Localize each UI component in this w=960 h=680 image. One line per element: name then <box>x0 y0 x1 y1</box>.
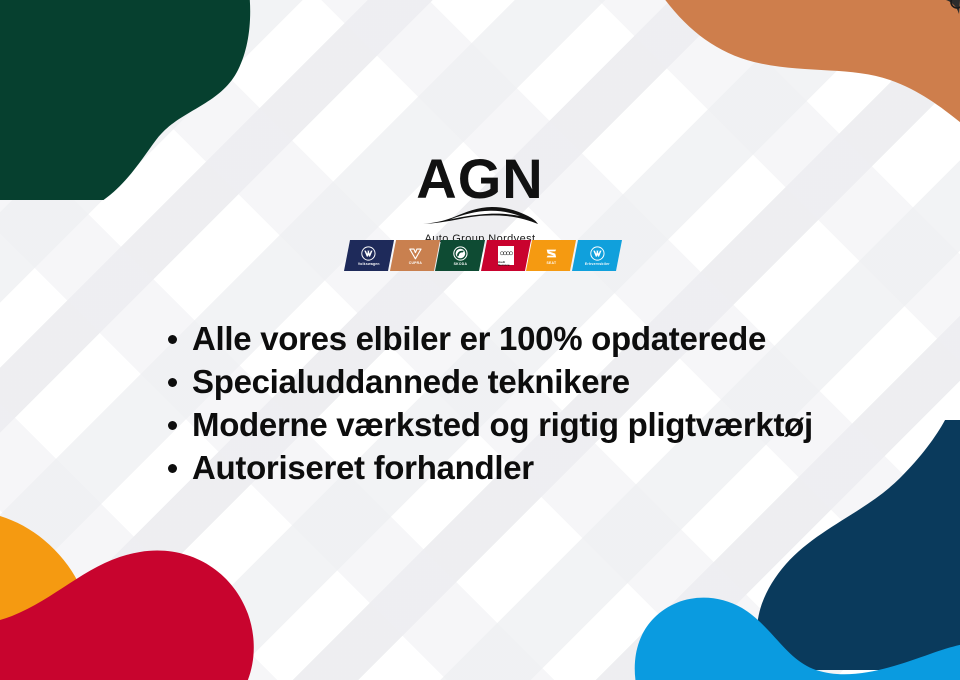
bullet-text: Alle vores elbiler er 100% opdaterede <box>192 320 766 359</box>
audi-wordmark: Audi Service <box>498 261 514 267</box>
bullet-text: Autoriseret forhandler <box>192 449 534 488</box>
bottom-right-blue-blob <box>630 510 960 680</box>
seat-s-icon <box>545 247 558 260</box>
feature-bullet-list: Alle vores elbiler er 100% opdaterede Sp… <box>168 320 888 492</box>
bullet-dot-icon <box>168 464 177 473</box>
bullet-dot-icon <box>168 421 177 430</box>
cupra-triangle-icon <box>407 247 422 260</box>
bullet-dot-icon <box>168 378 177 387</box>
bullet-item: Specialuddannede teknikere <box>168 363 888 402</box>
agn-logo: AGN Auto Group Nordvest <box>0 152 960 245</box>
brand-strip: Volkswagen CUPRA <box>347 240 619 271</box>
brand-label-skoda: SKODA <box>453 262 467 265</box>
slide-canvas: AGN Auto Group Nordvest Volkswagen <box>0 0 960 680</box>
skoda-arrow-icon <box>453 246 468 261</box>
vw-roundel-icon <box>589 246 604 261</box>
bullet-item: Alle vores elbiler er 100% opdaterede <box>168 320 888 359</box>
audi-service-card: Audi Service <box>498 246 514 265</box>
brand-tile-seat[interactable]: SEAT <box>526 240 576 271</box>
logo-wordmark: AGN <box>416 152 543 207</box>
bullet-dot-icon <box>168 335 177 344</box>
brand-label-vw-erhvervsbiler: Erhvervsbiler <box>584 262 609 265</box>
bullet-item: Moderne værksted og rigtig pligtværktøj <box>168 406 888 445</box>
car-silhouette-icon <box>420 205 540 232</box>
brand-label-seat: SEAT <box>546 261 556 264</box>
brand-tile-skoda[interactable]: SKODA <box>435 240 485 271</box>
vw-roundel-icon <box>362 246 377 261</box>
brand-label-volkswagen: Volkswagen <box>358 262 380 265</box>
brand-label-cupra: CUPRA <box>408 261 421 264</box>
brand-tile-audi-service[interactable]: Audi Service <box>481 240 531 271</box>
brand-tile-vw-erhvervsbiler[interactable]: Erhvervsbiler <box>572 240 622 271</box>
bottom-left-red-blob <box>0 490 300 680</box>
corner-accent-mark <box>938 0 960 25</box>
bullet-text: Specialuddannede teknikere <box>192 363 630 402</box>
brand-tile-volkswagen[interactable]: Volkswagen <box>344 240 394 271</box>
bullet-item: Autoriseret forhandler <box>168 449 888 488</box>
brand-tile-cupra[interactable]: CUPRA <box>390 240 440 271</box>
audi-rings-icon <box>499 244 512 260</box>
bullet-text: Moderne værksted og rigtig pligtværktøj <box>192 406 813 445</box>
